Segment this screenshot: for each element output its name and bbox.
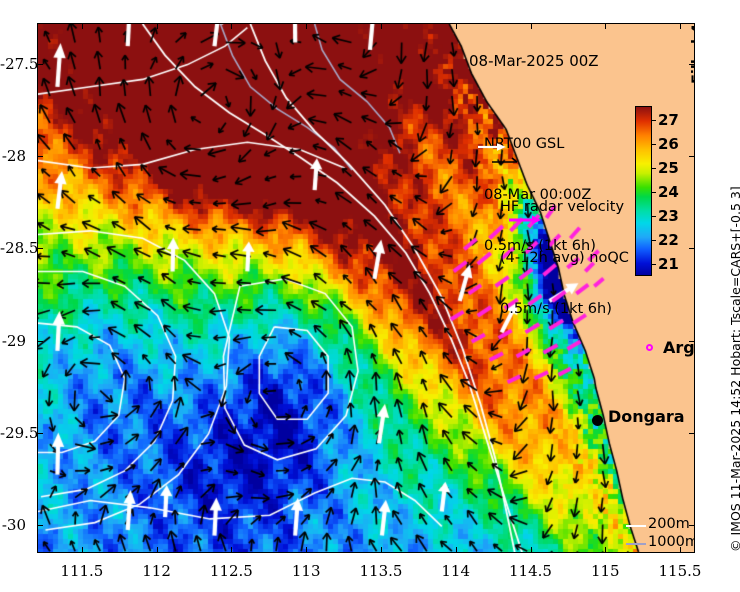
legend-depth-1000m-line [626,543,646,545]
y-axis-tick [689,525,695,526]
y-axis-tick [689,248,695,249]
colorbar-tick-label: 23 [658,207,679,225]
legend-depth-200m-line [626,525,646,527]
colorbar-tick [652,192,656,193]
legend-hf-arrow-icon [508,212,542,228]
x-axis-tick [680,547,681,553]
x-axis-tick [231,547,232,553]
x-axis-tick [680,23,681,29]
legend-hf-radar: HF radar velocity (4-12h avg) noQC 0.5m/… [500,165,629,352]
legend-nrt-arrow-icon [476,136,506,158]
argo-marker-icon [646,344,653,351]
x-axis-tick [531,23,532,29]
legend-depth-200m-label: 200m [648,516,690,532]
x-axis-tick [605,547,606,553]
colorbar-tick [652,240,656,241]
y-axis-tick [689,341,695,342]
y-axis-tick-label: -29 [0,332,26,350]
colorbar-tick [652,144,656,145]
x-axis-tick [82,547,83,553]
y-axis-tick [689,64,695,65]
x-axis-tick-label: 112.5 [191,562,271,580]
x-axis-tick [306,547,307,553]
map-plot-area[interactable]: 08-Mar-2025 00Z NRT00 GSL 08-Mar 00:00Z … [37,23,695,553]
x-axis-tick-label: 111.5 [42,562,122,580]
y-axis-tick [689,156,695,157]
colorbar-tick-label: 26 [658,135,679,153]
y-axis-tick [37,341,43,342]
colorbar-tick [652,264,656,265]
y-axis-tick-label: -28 [0,147,26,165]
colorbar-title: Filled 4h comp, p50, All Sats [690,23,695,84]
figure-canvas: 08-Mar-2025 00Z NRT00 GSL 08-Mar 00:00Z … [0,0,740,592]
y-axis-tick [37,156,43,157]
x-axis-tick [157,547,158,553]
y-axis-tick [37,525,43,526]
colorbar-tick-label: 24 [658,183,679,201]
dongara-marker-icon [592,415,603,426]
x-axis-tick [231,23,232,29]
colorbar-tick-label: 25 [658,159,679,177]
place-label-dongara: Dongara [608,407,685,426]
x-axis-tick-label: 112 [117,562,197,580]
x-axis-tick [605,23,606,29]
x-axis-tick-label: 114.5 [491,562,571,580]
y-axis-tick-label: -30 [0,516,26,534]
date-stamp: 08-Mar-2025 00Z [469,53,599,70]
colorbar-tick-label: 27 [658,111,679,129]
colorbar-tick [652,216,656,217]
x-axis-tick-label: 113 [266,562,346,580]
x-axis-tick-label: 114 [416,562,496,580]
colorbar-tick [652,120,656,121]
credit-text: © IMOS 11-Mar-2025 14:52 Hobart; Tscale=… [728,186,740,552]
y-axis-tick-label: -27.5 [0,55,26,73]
x-axis-tick [157,23,158,29]
colorbar-gradient [635,106,652,276]
legend-hf-line3: 0.5m/s (1kt 6h) [500,301,629,318]
x-axis-tick [381,547,382,553]
legend-hf-line2: (4-12h avg) noQC [500,250,629,267]
colorbar-tick-label: 22 [658,231,679,249]
x-axis-tick-label: 115.5 [640,562,720,580]
legend-hf-black-tick-icon [490,156,520,170]
x-axis-tick-label: 115 [565,562,645,580]
x-axis-tick-label: 113.5 [341,562,421,580]
colorbar: Filled 4h comp, p50, All Sats 2726252423… [635,84,695,294]
legend-depth-1000m-label: 1000m [648,534,695,550]
x-axis-tick [82,23,83,29]
x-axis-tick [381,23,382,29]
colorbar-tick [652,168,656,169]
y-axis-tick-label: -29.5 [0,424,26,442]
x-axis-tick [456,547,457,553]
colorbar-tick-label: 21 [658,255,679,273]
y-axis-tick-label: -28.5 [0,239,26,257]
x-axis-tick [531,547,532,553]
x-axis-tick [306,23,307,29]
x-axis-tick [456,23,457,29]
y-axis-tick [689,433,695,434]
